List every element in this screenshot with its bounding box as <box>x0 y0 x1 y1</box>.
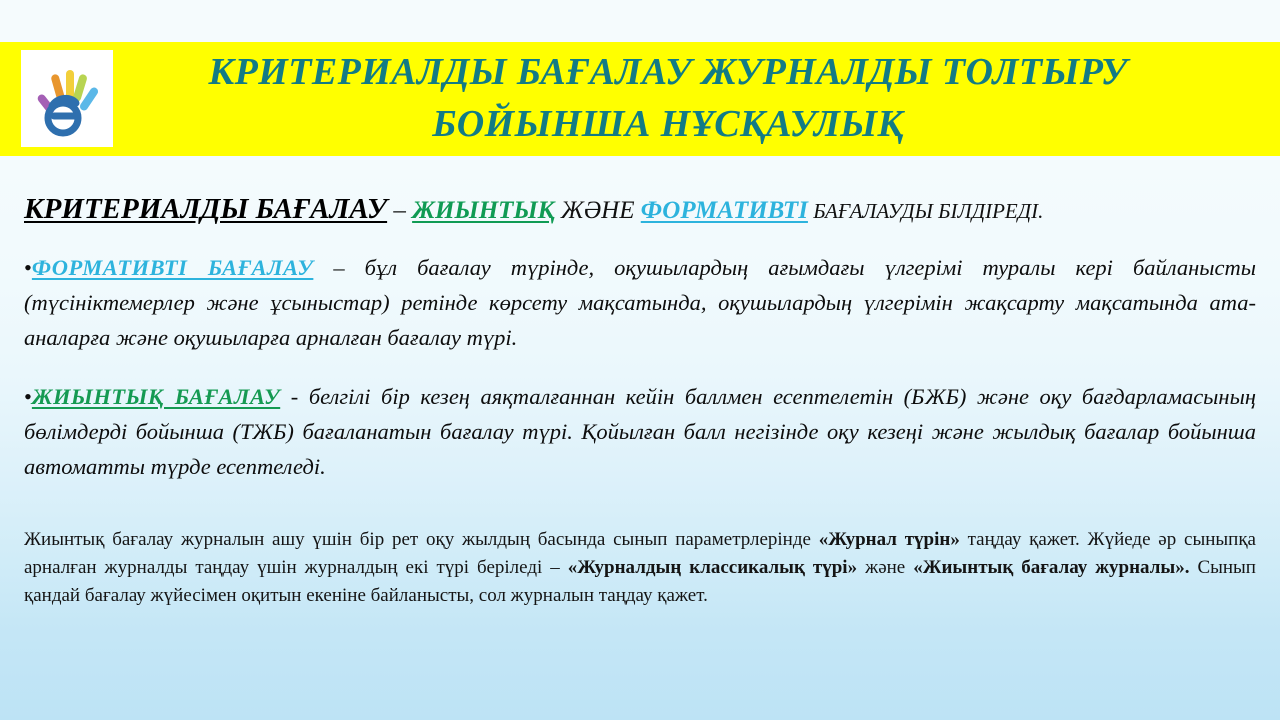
term-formative: ФОРМАТИВТІ <box>641 197 808 224</box>
journal-instructions-note: Жиынтық бағалау журналын ашу үшін бір ре… <box>24 526 1256 610</box>
page-title: КРИТЕРИАЛДЫ БАҒАЛАУ ЖУРНАЛДЫ ТОЛТЫРУ БОЙ… <box>118 46 1218 150</box>
bullet-marker: • <box>24 384 32 409</box>
definition-lead: КРИТЕРИАЛДЫ БАҒАЛАУ – ЖИЫНТЫҚ ЖӘНЕ ФОРМА… <box>24 194 1256 226</box>
bullet-heading-formative: ФОРМАТИВТІ БАҒАЛАУ <box>32 255 313 280</box>
bullet-marker: • <box>24 255 32 280</box>
note-bold-summative-journal: «Жиынтық бағалау журналы». <box>913 557 1189 578</box>
lead-conjunction: ЖӘНЕ <box>555 197 641 224</box>
organization-logo <box>21 50 113 147</box>
lead-dash: – <box>387 197 412 224</box>
note-bold-journal-type: «Журнал түрін» <box>819 529 960 550</box>
note-part-1: Жиынтық бағалау журналын ашу үшін бір ре… <box>24 529 819 550</box>
bullet-formative-assessment: •ФОРМАТИВТІ БАҒАЛАУ – бұл бағалау түрінд… <box>24 250 1256 355</box>
lead-tail: БАҒАЛАУДЫ БІЛДІРЕДІ. <box>808 199 1043 223</box>
term-summative: ЖИЫНТЫҚ <box>412 197 555 224</box>
slide-content: КРИТЕРИАЛДЫ БАҒАЛАУ – ЖИЫНТЫҚ ЖӘНЕ ФОРМА… <box>0 156 1280 610</box>
bullet-summative-assessment: •ЖИЫНТЫҚ БАҒАЛАУ - белгілі бір кезең аяқ… <box>24 379 1256 484</box>
term-criterial-assessment: КРИТЕРИАЛДЫ БАҒАЛАУ <box>24 193 387 225</box>
hand-with-ae-letter-logo-icon <box>21 50 113 147</box>
title-banner: КРИТЕРИАЛДЫ БАҒАЛАУ ЖУРНАЛДЫ ТОЛТЫРУ БОЙ… <box>0 42 1280 156</box>
note-bold-classic-journal: «Журналдың классикалық түрі» <box>568 557 857 578</box>
note-part-3: және <box>857 557 913 578</box>
bullet-heading-summative: ЖИЫНТЫҚ БАҒАЛАУ <box>32 384 280 409</box>
